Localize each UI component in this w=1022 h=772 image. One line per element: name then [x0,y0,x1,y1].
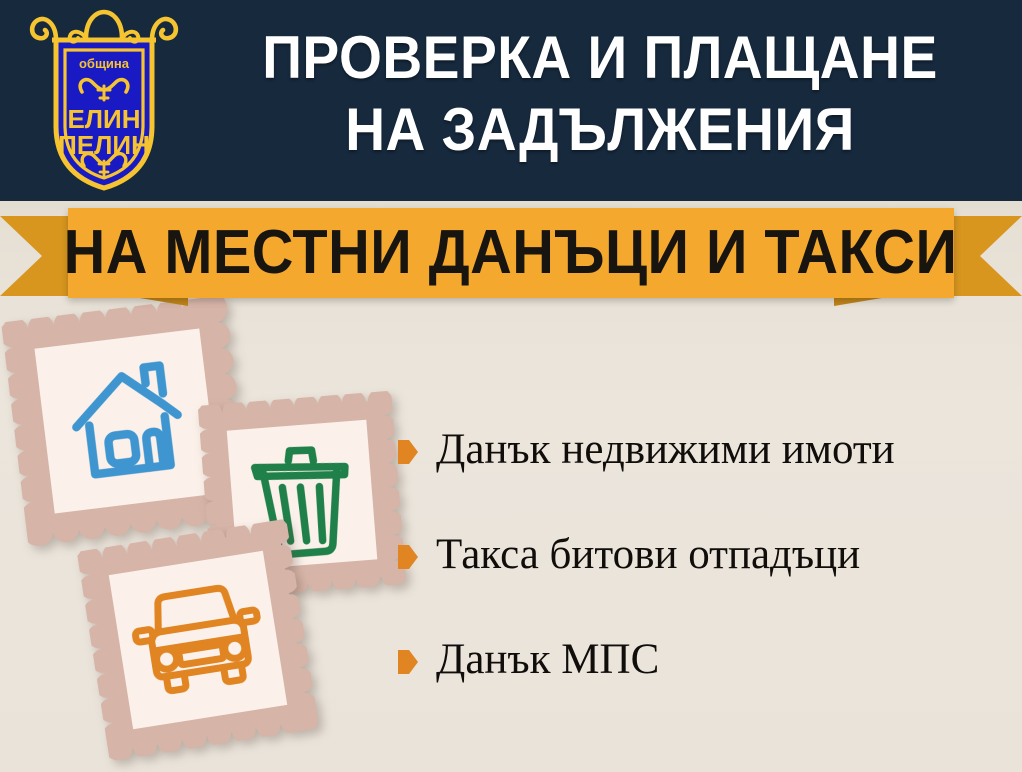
ribbon-center: НА МЕСТНИ ДАНЪЦИ И ТАКСИ [68,208,954,298]
logo-small-label: община [79,56,130,71]
arrow-bullet-icon [398,440,418,464]
list-item[interactable]: Такса битови отпадъци [398,529,1018,634]
promo-banner: община ЕЛИН ПЕЛИН ПРОВЕРКА И ПЛАЩАНЕ НА … [0,0,1022,772]
list-item-label: Данък недвижими имоти [436,424,1018,476]
ribbon-banner: НА МЕСТНИ ДАНЪЦИ И ТАКСИ [0,200,1022,310]
arrow-bullet-icon [398,650,418,674]
list-item[interactable]: Данък недвижими имоти [398,424,1018,529]
page-title-line-1: ПРОВЕРКА И ПЛАЩАНЕ [223,22,977,94]
municipality-logo: община ЕЛИН ПЕЛИН [22,6,186,196]
stamp-card-car [77,519,320,762]
list-item-label: Такса битови отпадъци [436,529,1018,581]
list-item[interactable]: Данък МПС [398,634,1018,739]
arrow-bullet-icon [398,545,418,569]
ribbon-subtitle: НА МЕСТНИ ДАНЪЦИ И ТАКСИ [64,222,958,284]
logo-name-line-2: ПЕЛИН [58,130,150,160]
header-bar: община ЕЛИН ПЕЛИН ПРОВЕРКА И ПЛАЩАНЕ НА … [0,0,1022,201]
list-item-label: Данък МПС [436,634,1018,686]
tax-type-list: Данък недвижими имоти Такса битови отпад… [398,424,1018,739]
page-title: ПРОВЕРКА И ПЛАЩАНЕ НА ЗАДЪЛЖЕНИЯ [223,22,977,166]
page-title-line-2: НА ЗАДЪЛЖЕНИЯ [223,94,977,166]
